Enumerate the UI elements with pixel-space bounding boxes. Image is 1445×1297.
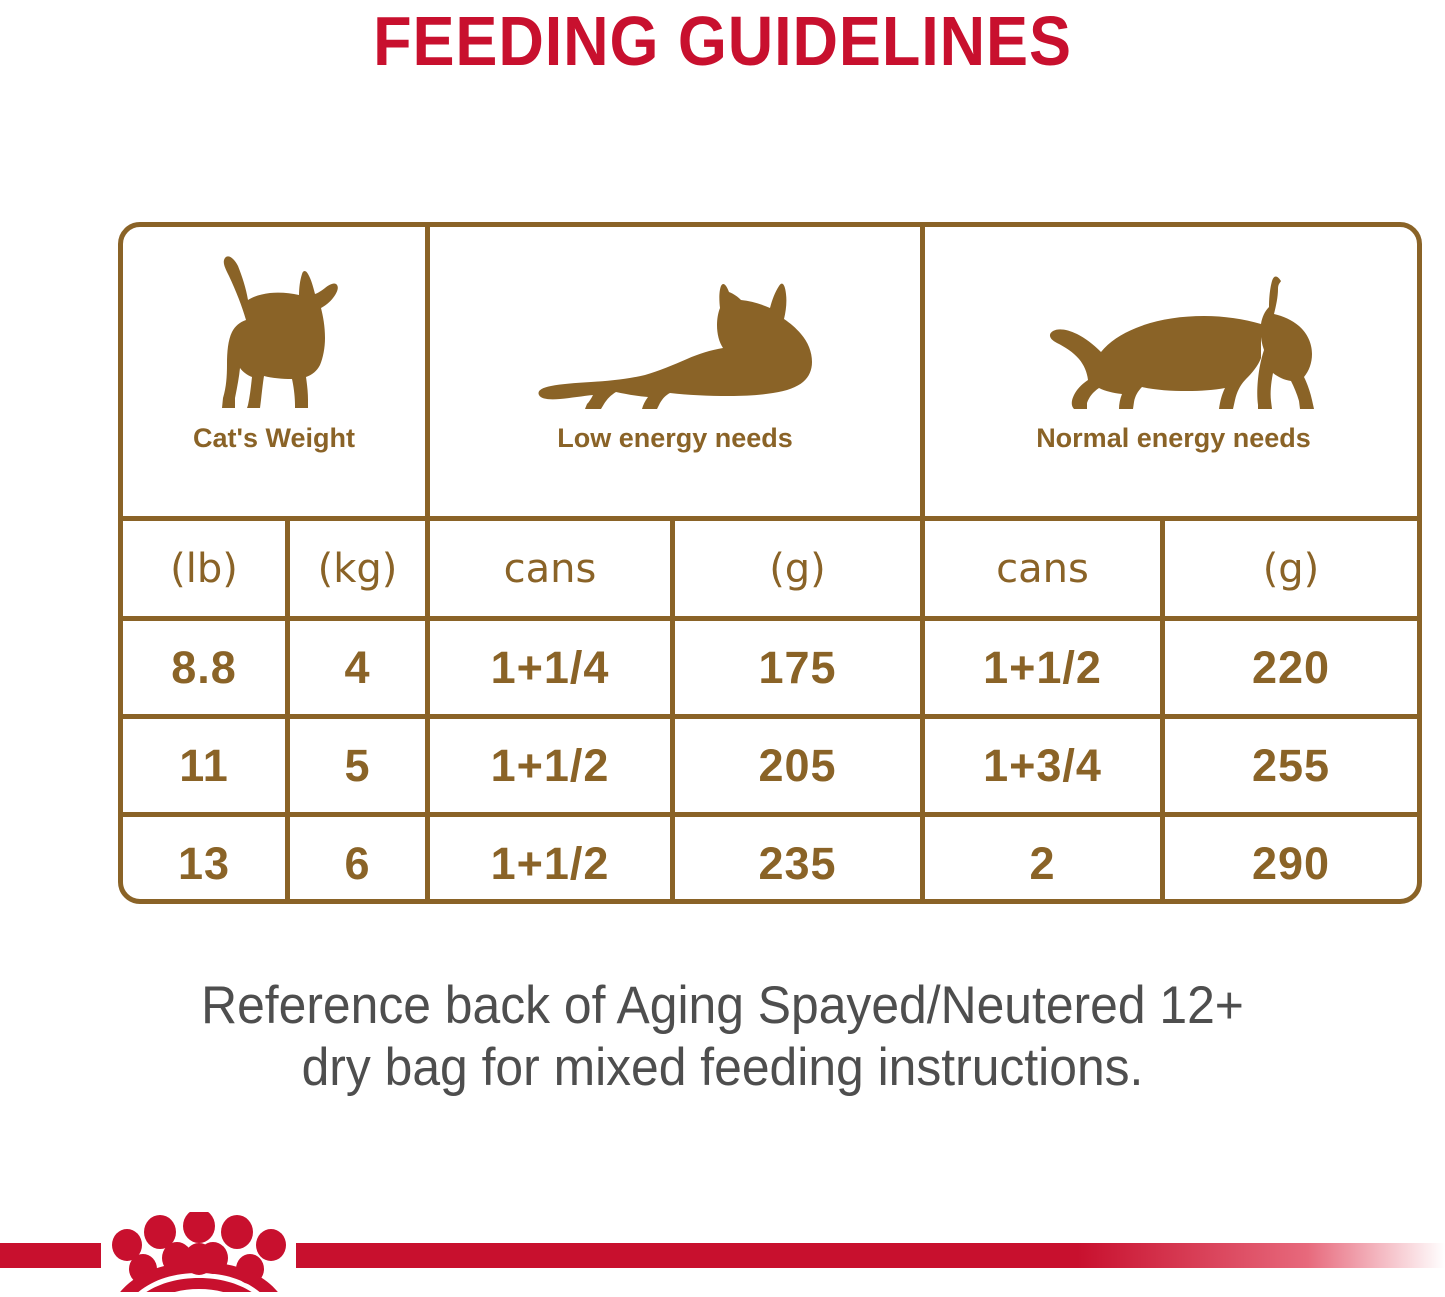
table-row: 11: [123, 719, 285, 812]
table-row: 205: [675, 719, 920, 812]
feeding-guidelines-table: Cat's Weight Low energy needs Normal ene…: [118, 222, 1422, 904]
table-row: 4: [290, 621, 425, 714]
table-row: 13: [123, 817, 285, 910]
unit-header-normal-g: (g): [1165, 521, 1417, 616]
unit-header-lb: (lb): [123, 521, 285, 616]
table-row: 220: [1165, 621, 1417, 714]
table-row: 1+1/2: [430, 719, 670, 812]
table-row: 1+1/4: [430, 621, 670, 714]
royal-canin-crown-logo: [103, 1212, 298, 1292]
table-row: 1+1/2: [430, 817, 670, 910]
table-row: 255: [1165, 719, 1417, 812]
table-row: 6: [290, 817, 425, 910]
cat-walking-icon: [1029, 227, 1319, 413]
table-row: 8.8: [123, 621, 285, 714]
page-title: FEEDING GUIDELINES: [72, 2, 1373, 80]
unit-header-low-g: (g): [675, 521, 920, 616]
group-header-label: Low energy needs: [557, 423, 793, 454]
table-row: 2: [925, 817, 1160, 910]
unit-header-low-cans: cans: [430, 521, 670, 616]
table-row: 175: [675, 621, 920, 714]
group-header-normal-energy: Normal energy needs: [925, 227, 1422, 521]
group-header-label: Normal energy needs: [1036, 423, 1311, 454]
table-row: 1+3/4: [925, 719, 1160, 812]
unit-header-normal-cans: cans: [925, 521, 1160, 616]
table-row: 235: [675, 817, 920, 910]
cat-standing-icon: [194, 227, 354, 413]
table-row: 5: [290, 719, 425, 812]
footnote-line-2: dry bag for mixed feeding instructions.: [43, 1037, 1401, 1099]
table-row: 290: [1165, 817, 1417, 910]
table-row: 1+1/2: [925, 621, 1160, 714]
brand-bar-right: [296, 1243, 1445, 1268]
footnote: Reference back of Aging Spayed/Neutered …: [43, 975, 1401, 1099]
group-header-low-energy: Low energy needs: [430, 227, 920, 521]
cat-lying-icon: [533, 227, 818, 413]
footnote-line-1: Reference back of Aging Spayed/Neutered …: [43, 975, 1401, 1037]
unit-header-kg: (kg): [290, 521, 425, 616]
group-header-cats-weight: Cat's Weight: [123, 227, 425, 521]
group-header-label: Cat's Weight: [193, 423, 355, 454]
brand-bar-left: [0, 1243, 101, 1268]
